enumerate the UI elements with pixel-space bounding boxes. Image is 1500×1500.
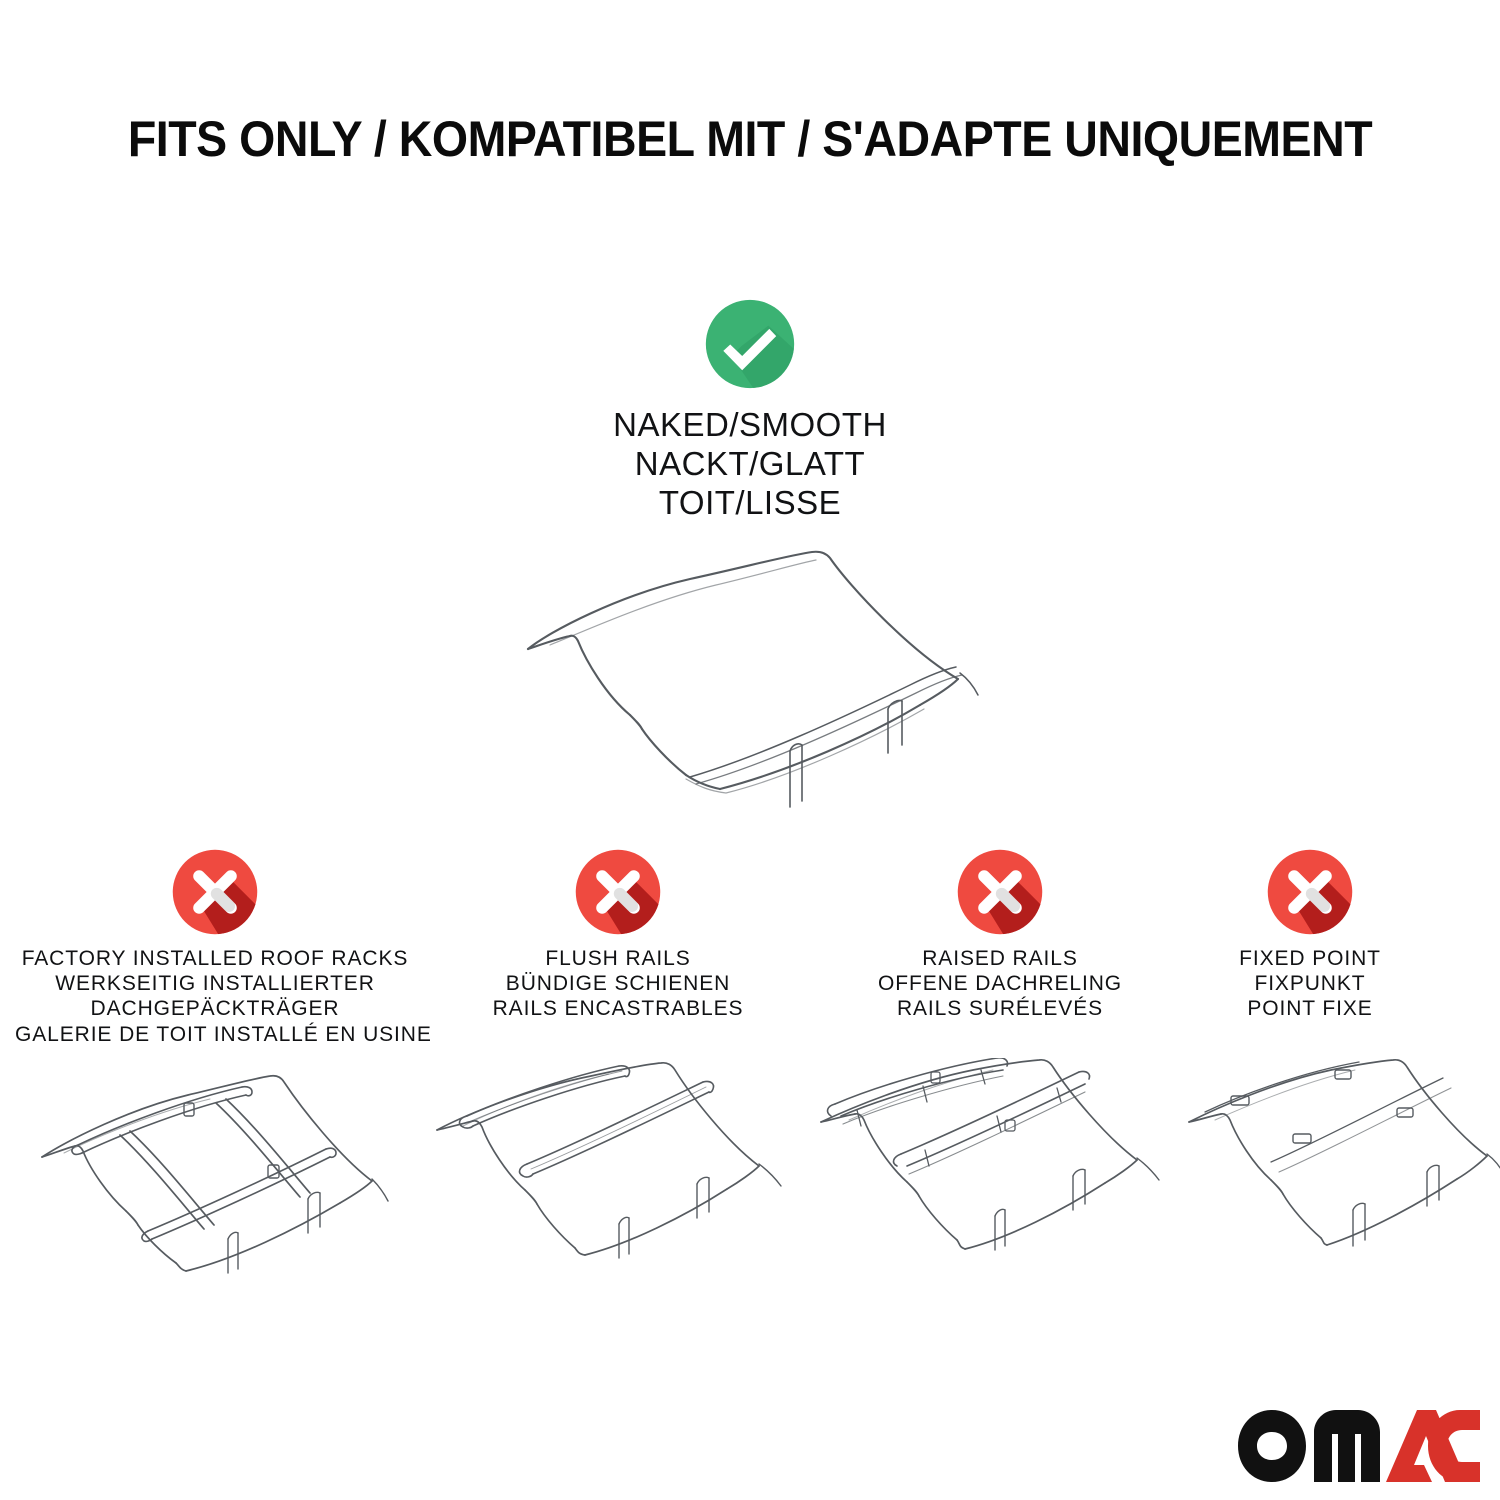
compatible-label-en: NAKED/SMOOTH [0, 406, 1500, 445]
label-line-1: RAISED RAILS [802, 946, 1198, 971]
compatible-labels: NAKED/SMOOTH NACKT/GLATT TOIT/LISSE [0, 406, 1500, 523]
car-roof-factory-roof-racks-illustration [15, 1061, 415, 1276]
incompatible-roof-types-row: FACTORY INSTALLED ROOF RACKS WERKSEITIG … [0, 848, 1500, 1278]
x-circle-icon [1175, 848, 1445, 936]
incompatible-card-raised-rails: RAISED RAILS OFFENE DACHRELING RAILS SUR… [802, 848, 1198, 1273]
label-line-3: POINT FIXE [1175, 996, 1445, 1021]
label-line-3: RAILS ENCASTRABLES [420, 996, 816, 1021]
incompatible-labels: RAISED RAILS OFFENE DACHRELING RAILS SUR… [802, 946, 1198, 1022]
car-roof-raised-rails-illustration [802, 1058, 1198, 1273]
incompatible-card-factory-roof-racks: FACTORY INSTALLED ROOF RACKS WERKSEITIG … [15, 848, 415, 1276]
compatible-label-de: NACKT/GLATT [0, 445, 1500, 484]
check-circle-icon [0, 298, 1500, 390]
car-roof-naked-smooth-illustration [0, 539, 1500, 809]
incompatible-labels: FLUSH RAILS BÜNDIGE SCHIENEN RAILS ENCAS… [420, 946, 816, 1022]
label-line-2: WERKSEITIG INSTALLIERTER [15, 971, 415, 996]
label-line-2: OFFENE DACHRELING [802, 971, 1198, 996]
label-line-2: FIXPUNKT [1175, 971, 1445, 996]
label-line-1: FACTORY INSTALLED ROOF RACKS [15, 946, 415, 971]
omac-logo [1236, 1408, 1480, 1486]
incompatible-card-flush-rails: FLUSH RAILS BÜNDIGE SCHIENEN RAILS ENCAS… [420, 848, 816, 1273]
car-roof-flush-rails-illustration [420, 1058, 816, 1273]
x-circle-icon [15, 848, 415, 936]
logo-letter-m [1314, 1410, 1380, 1482]
x-circle-icon [420, 848, 816, 936]
incompatible-card-fixed-point: FIXED POINT FIXPUNKT POINT FIXE [1175, 848, 1445, 1273]
label-line-3: RAILS SURÉLEVÉS [802, 996, 1198, 1021]
label-line-1: FLUSH RAILS [420, 946, 816, 971]
page-title: FITS ONLY / KOMPATIBEL MIT / S'ADAPTE UN… [53, 110, 1448, 168]
incompatible-labels: FACTORY INSTALLED ROOF RACKS WERKSEITIG … [15, 946, 415, 1047]
incompatible-labels: FIXED POINT FIXPUNKT POINT FIXE [1175, 946, 1445, 1022]
logo-letter-o [1238, 1410, 1306, 1482]
fitment-compatibility-infographic: FITS ONLY / KOMPATIBEL MIT / S'ADAPTE UN… [0, 0, 1500, 1500]
label-line-1: FIXED POINT [1175, 946, 1445, 971]
compatible-roof-type-card: NAKED/SMOOTH NACKT/GLATT TOIT/LISSE [0, 298, 1500, 809]
car-roof-fixed-point-illustration [1175, 1058, 1445, 1273]
label-line-4: GALERIE DE TOIT INSTALLÉ EN USINE [15, 1022, 415, 1047]
x-circle-icon [802, 848, 1198, 936]
compatible-label-fr: TOIT/LISSE [0, 484, 1500, 523]
label-line-3: DACHGEPÄCKTRÄGER [15, 996, 415, 1021]
label-line-2: BÜNDIGE SCHIENEN [420, 971, 816, 996]
